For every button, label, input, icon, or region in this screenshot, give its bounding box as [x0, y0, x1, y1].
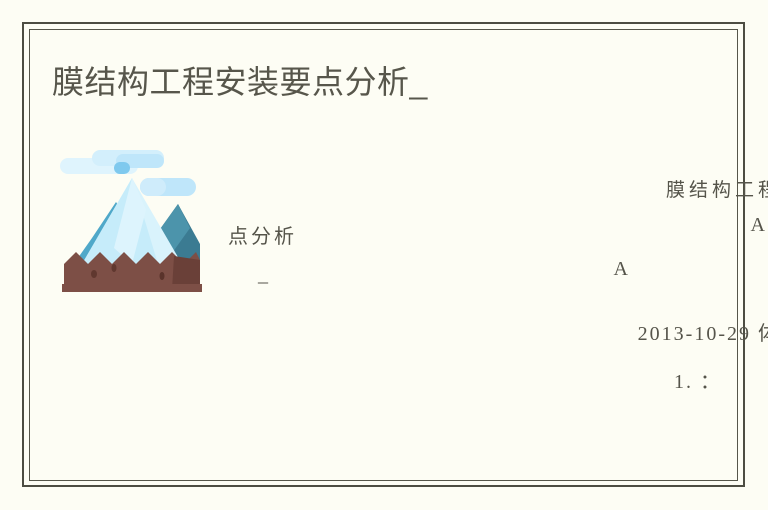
document-page: 膜结构工程安装要点分析_ [0, 0, 768, 510]
excerpt-column-date: 2013-10-29 体博 [638, 317, 768, 346]
excerpt-column-heading: 膜结构工程安 [666, 175, 768, 202]
excerpt-snippet-main: 点分析 [228, 220, 297, 249]
excerpt-snippet-dash: _ [258, 264, 269, 287]
excerpt-column-mark-a-2: A [614, 258, 629, 281]
excerpt-column-item: 1. ： [674, 365, 722, 394]
mountain-landscape-placeholder-icon [54, 148, 210, 300]
excerpt-column-mark-a-1: A [751, 214, 766, 237]
page-title: 膜结构工程安装要点分析_ [52, 60, 428, 104]
